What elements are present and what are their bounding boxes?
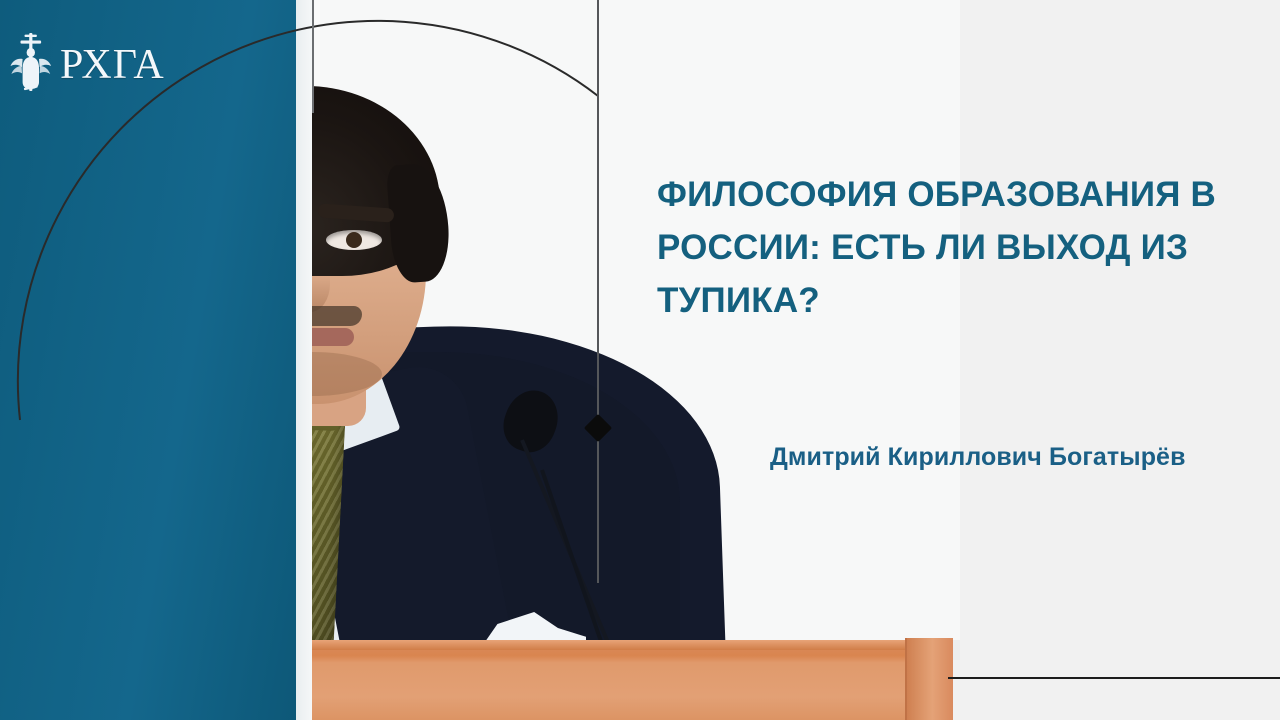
brand-logo: РХГА [8,30,165,100]
vertical-rule-main [597,0,599,583]
hair-side-right [386,162,452,284]
lectern-side-face [905,638,953,720]
pupil-right [346,232,362,248]
brand-panel [0,0,296,720]
video-title-slide: РХГА ФИЛОСОФИЯ ОБРАЗОВАНИЯ В РОССИИ: ЕСТ… [0,0,1280,720]
horizontal-rule-bottom [948,677,1280,679]
angel-with-cross-icon [8,30,54,100]
brand-logo-text: РХГА [60,44,165,86]
slide-title: ФИЛОСОФИЯ ОБРАЗОВАНИЯ В РОССИИ: ЕСТЬ ЛИ … [657,168,1262,328]
speaker-name: Дмитрий Кириллович Богатырёв [770,443,1270,472]
panel-seam [296,0,312,720]
vertical-rule-top [312,0,314,113]
